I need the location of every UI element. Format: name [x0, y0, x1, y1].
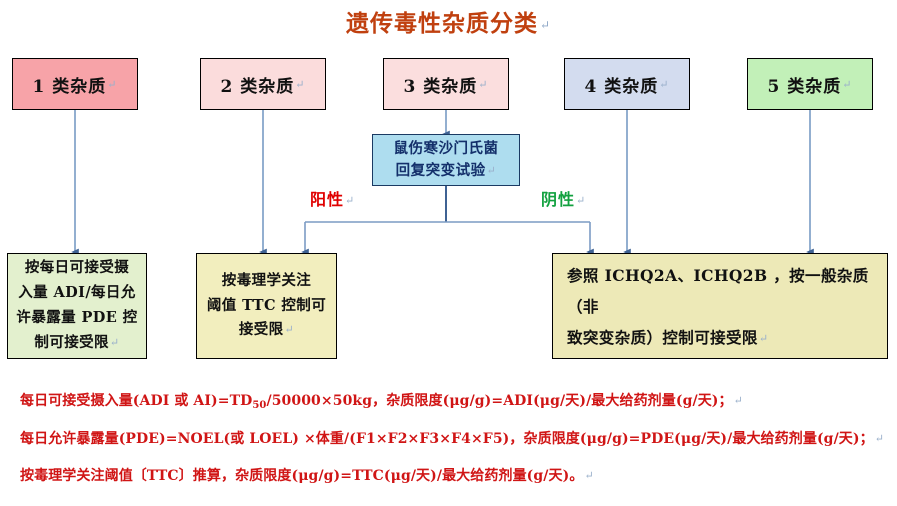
category-label-class-4: 4 类杂质	[585, 72, 659, 97]
result-line: 参照 ICHQ2A、ICHQ2B ，按一般杂质（非	[567, 260, 873, 322]
branch-label-negative-text: 阴性	[541, 190, 575, 209]
pilcrow-mark: ↵	[540, 18, 551, 32]
flowchart-canvas: 遗传毒性杂质分类↵ 1 类杂质↵ 2 类杂质↵ 3 类杂质↵	[0, 0, 897, 506]
pilcrow-mark: ↵	[576, 194, 586, 207]
category-box-class-3[interactable]: 3 类杂质↵	[383, 58, 509, 110]
category-label-class-5: 5 类杂质	[768, 72, 842, 97]
note-line-adi-subscript: 50	[252, 400, 266, 411]
category-box-class-1[interactable]: 1 类杂质↵	[12, 58, 138, 110]
result-line: 接受限	[239, 321, 284, 338]
category-box-class-2[interactable]: 2 类杂质↵	[200, 58, 326, 110]
note-line-adi-part2: /50000×50kg，杂质限度(μg/g)=ADI(μg/天)/最大给药剂量(…	[266, 393, 732, 409]
result-box-ttc[interactable]: 按毒理学关注 阈值 TTC 控制可 接受限↵	[196, 253, 337, 359]
pilcrow-mark: ↵	[285, 323, 295, 336]
branch-label-negative: 阴性↵	[541, 186, 586, 210]
result-box-ichq2[interactable]: 参照 ICHQ2A、ICHQ2B ，按一般杂质（非 致突变杂质）控制可接受限↵	[552, 253, 888, 359]
result-line: 按毒理学关注	[205, 269, 328, 294]
result-line: 入量 ADI/每日允	[16, 281, 137, 306]
pilcrow-mark: ↵	[659, 78, 669, 91]
category-box-class-4[interactable]: 4 类杂质↵	[564, 58, 690, 110]
note-line-pde-text: 每日允许暴露量(PDE)=NOEL(或 LOEL) ×体重/(F1×F2×F3×…	[20, 431, 874, 447]
note-line-ttc: 按毒理学关注阈值〔TTC〕推算，杂质限度(μg/g)=TTC(μg/天)/最大给…	[20, 465, 594, 485]
result-box-adi-pde[interactable]: 按每日可接受摄 入量 ADI/每日允 许暴露量 PDE 控 制可接受限↵	[7, 253, 147, 359]
branch-label-positive-text: 阳性	[310, 190, 344, 209]
category-label-class-1: 1 类杂质	[33, 72, 107, 97]
pilcrow-mark: ↵	[295, 78, 305, 91]
result-line: 许暴露量 PDE 控	[16, 306, 137, 331]
note-line-ttc-text: 按毒理学关注阈值〔TTC〕推算，杂质限度(μg/g)=TTC(μg/天)/最大给…	[20, 468, 583, 484]
result-line: 按每日可接受摄	[16, 256, 137, 281]
pilcrow-mark: ↵	[842, 78, 852, 91]
pilcrow-mark: ↵	[584, 469, 593, 482]
category-box-class-5[interactable]: 5 类杂质↵	[747, 58, 873, 110]
pilcrow-mark: ↵	[759, 332, 769, 345]
ames-test-line-1: 鼠伤寒沙门氏菌	[394, 138, 499, 160]
pilcrow-mark: ↵	[487, 164, 497, 177]
note-line-adi-part1: 每日可接受摄入量(ADI 或 AI)=TD	[20, 393, 252, 409]
pilcrow-mark: ↵	[107, 78, 117, 91]
page-title-text: 遗传毒性杂质分类	[346, 10, 538, 37]
pilcrow-mark: ↵	[478, 78, 488, 91]
ames-test-box[interactable]: 鼠伤寒沙门氏菌 回复突变试验↵	[372, 134, 520, 186]
branch-label-positive: 阳性↵	[310, 186, 355, 210]
note-line-adi: 每日可接受摄入量(ADI 或 AI)=TD50/50000×50kg，杂质限度(…	[20, 390, 743, 411]
category-label-class-3: 3 类杂质	[404, 72, 478, 97]
category-label-class-2: 2 类杂质	[221, 72, 295, 97]
result-line: 制可接受限	[34, 334, 109, 351]
pilcrow-mark: ↵	[345, 194, 355, 207]
result-line: 致突变杂质）控制可接受限	[567, 328, 758, 347]
pilcrow-mark: ↵	[875, 432, 884, 445]
pilcrow-mark: ↵	[734, 394, 743, 407]
result-line: 阈值 TTC 控制可	[205, 294, 328, 319]
page-title: 遗传毒性杂质分类↵	[0, 4, 897, 38]
ames-test-line-2: 回复突变试验	[396, 162, 486, 179]
note-line-pde: 每日允许暴露量(PDE)=NOEL(或 LOEL) ×体重/(F1×F2×F3×…	[20, 428, 884, 448]
pilcrow-mark: ↵	[110, 336, 120, 349]
